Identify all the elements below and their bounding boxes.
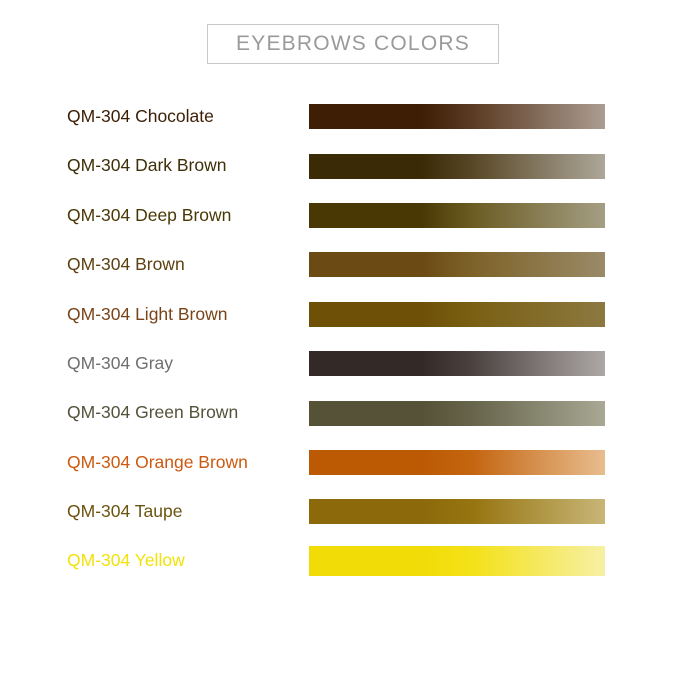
swatch-row: QM-304 Light Brown — [0, 290, 700, 339]
swatch-row: QM-304 Taupe — [0, 487, 700, 536]
color-chart-page: EYEBROWS COLORS QM-304 ChocolateQM-304 D… — [0, 0, 700, 700]
swatch-row: QM-304 Deep Brown — [0, 191, 700, 240]
swatch-label: QM-304 Taupe — [67, 503, 182, 521]
color-swatch — [309, 252, 605, 277]
color-swatch — [309, 499, 605, 524]
swatch-row: QM-304 Gray — [0, 339, 700, 388]
color-swatch — [309, 351, 605, 376]
color-swatch — [309, 104, 605, 129]
swatch-label: QM-304 Dark Brown — [67, 157, 227, 175]
swatch-row: QM-304 Yellow — [0, 537, 700, 586]
color-swatch — [309, 450, 605, 475]
color-swatch — [309, 154, 605, 179]
swatch-label: QM-304 Chocolate — [67, 108, 214, 126]
swatch-row: QM-304 Chocolate — [0, 92, 700, 141]
page-title: EYEBROWS COLORS — [236, 32, 470, 56]
swatch-row: QM-304 Green Brown — [0, 388, 700, 437]
color-swatch — [309, 302, 605, 327]
swatch-row: QM-304 Brown — [0, 240, 700, 289]
swatch-label: QM-304 Gray — [67, 355, 173, 373]
swatch-label: QM-304 Orange Brown — [67, 454, 248, 472]
swatch-label: QM-304 Light Brown — [67, 306, 228, 324]
swatch-label: QM-304 Green Brown — [67, 404, 238, 422]
swatch-label: QM-304 Brown — [67, 256, 185, 274]
swatch-row: QM-304 Orange Brown — [0, 438, 700, 487]
swatch-label: QM-304 Deep Brown — [67, 207, 231, 225]
color-swatch — [309, 401, 605, 426]
color-swatch — [309, 546, 605, 576]
chart-title-box: EYEBROWS COLORS — [207, 24, 499, 64]
swatch-list: QM-304 ChocolateQM-304 Dark BrownQM-304 … — [0, 92, 700, 586]
swatch-row: QM-304 Dark Brown — [0, 141, 700, 190]
swatch-label: QM-304 Yellow — [67, 552, 185, 570]
color-swatch — [309, 203, 605, 228]
